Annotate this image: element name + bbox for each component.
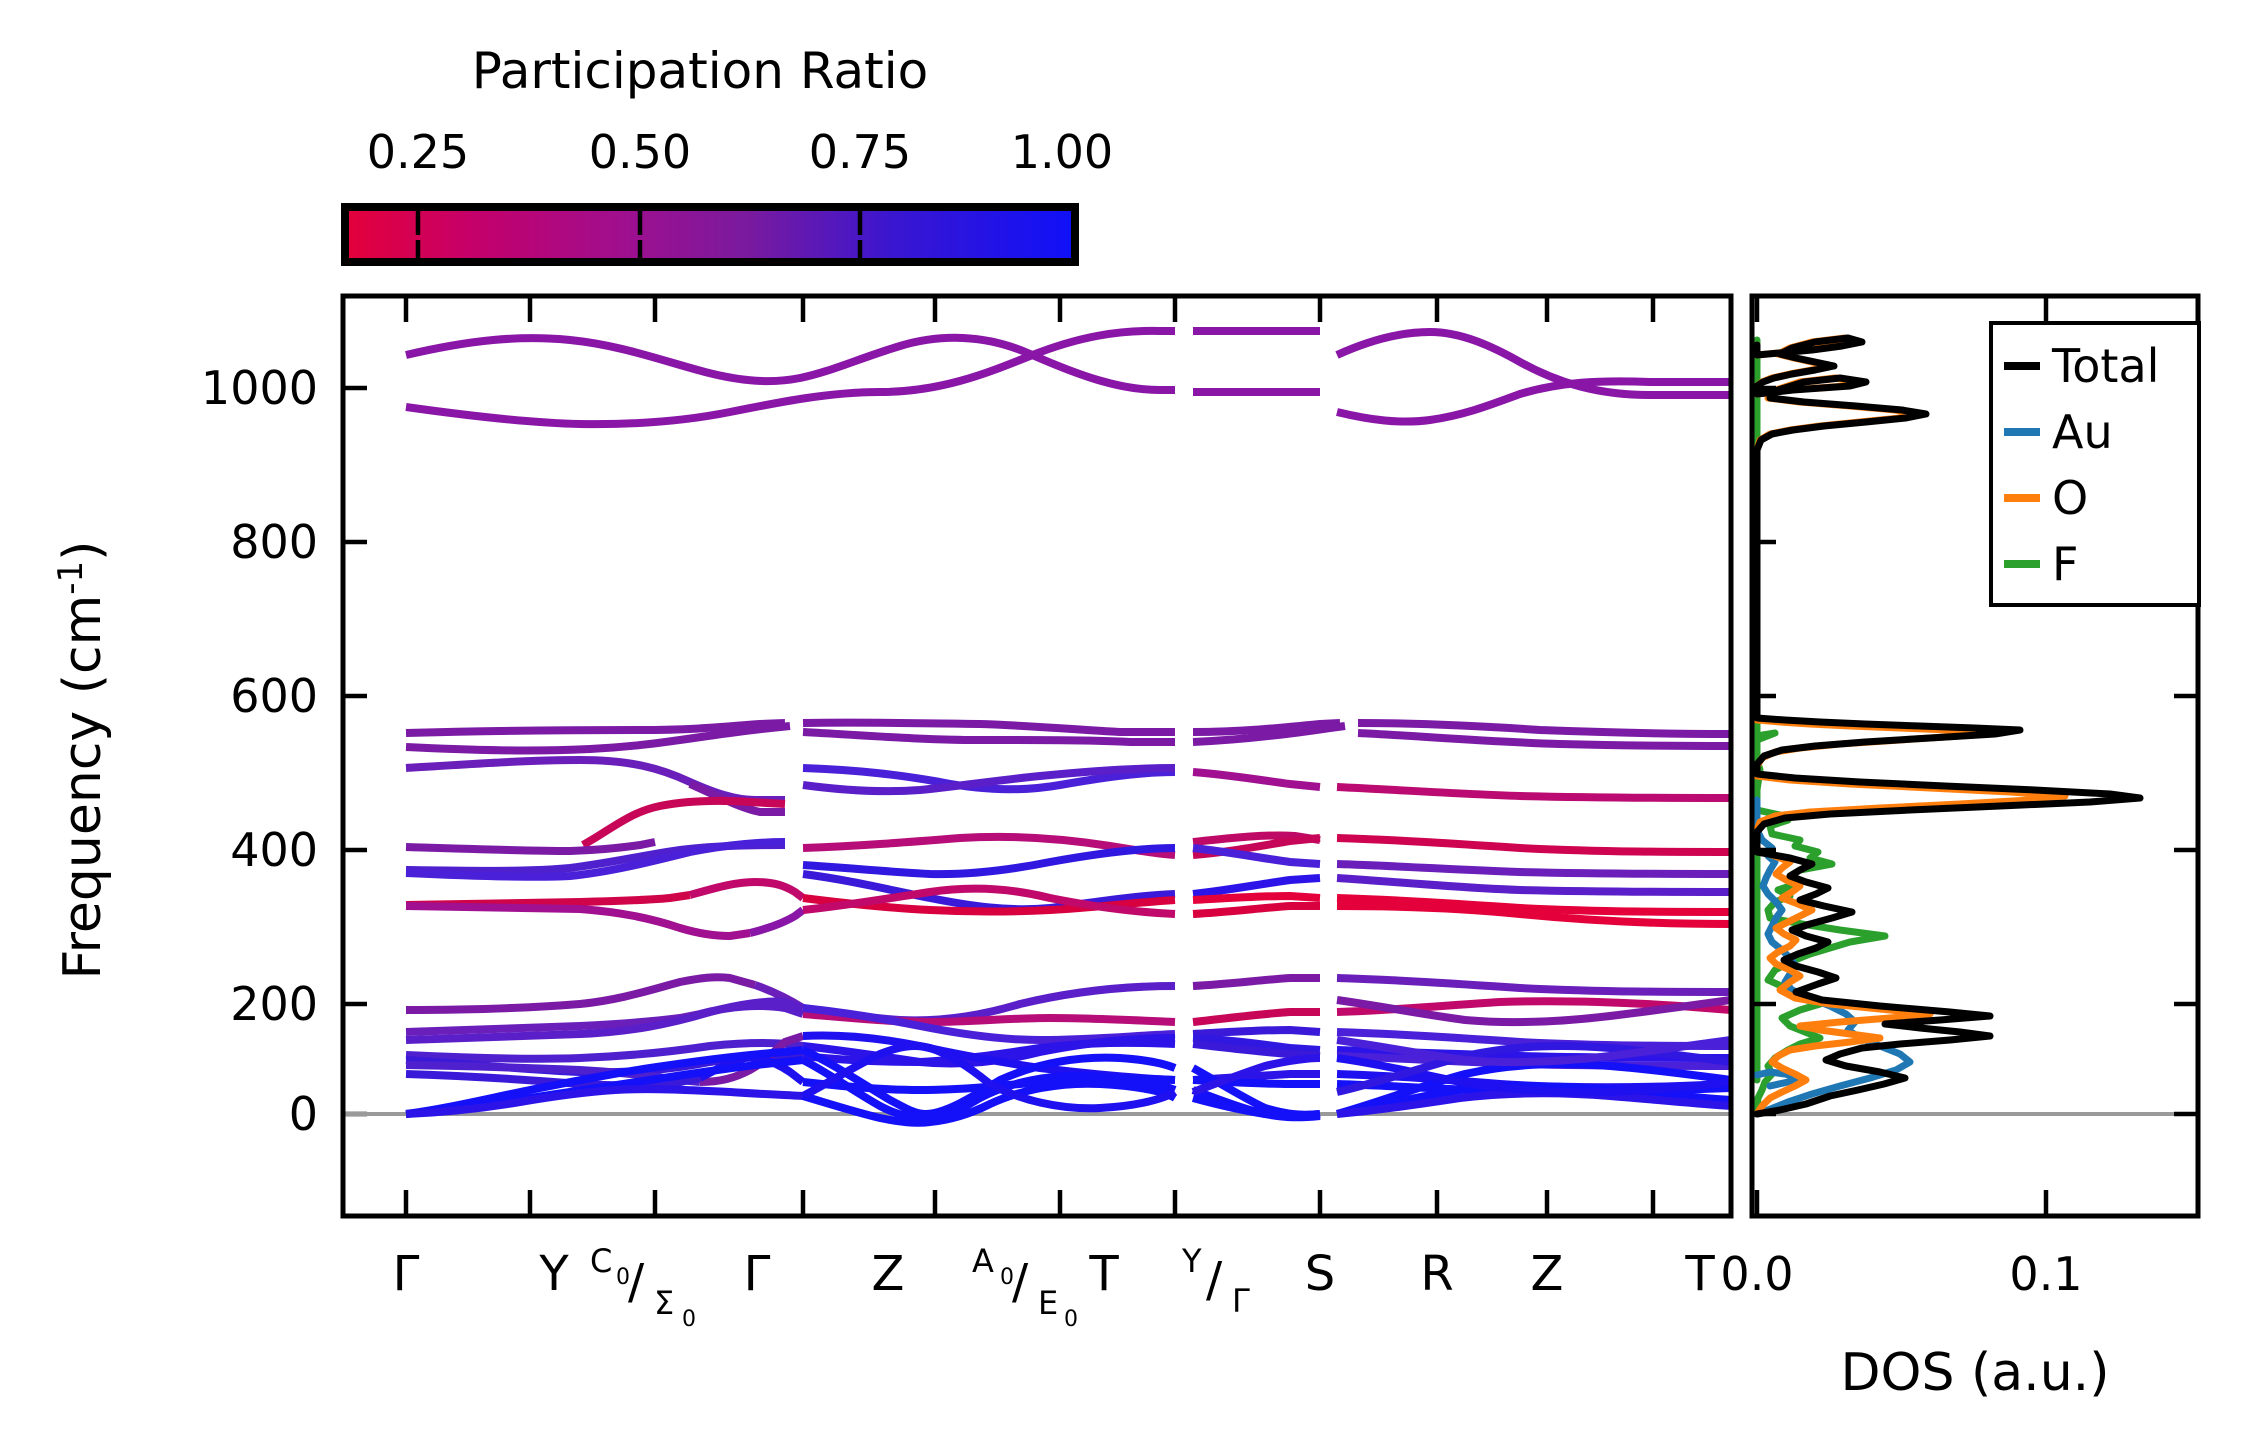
kpath-sigma0-main: Σ: [654, 1284, 674, 1322]
band-panel: 0 200 400 600 800 1000: [201, 296, 1731, 1216]
kpath-e0-main: E: [1038, 1284, 1058, 1322]
band-ytick-label-4: 800: [230, 515, 318, 569]
band-ytick-label-1: 200: [230, 977, 318, 1031]
colorbar-title: Participation Ratio: [472, 42, 928, 100]
colorbar-tick-1: 0.50: [589, 125, 691, 179]
legend-label-au: Au: [2052, 405, 2113, 459]
kpath-y2-main: Y: [1181, 1242, 1202, 1280]
kpath-label-r: R: [1420, 1246, 1453, 1302]
band-curve: [1193, 896, 1320, 900]
kpath-label-t-2: T: [1684, 1246, 1715, 1302]
kpath-slash-1: /: [628, 1254, 645, 1310]
kpath-slash-2: /: [1012, 1254, 1029, 1310]
y-axis-title-group: Frequency (cm-1): [51, 541, 113, 980]
kpath-label-gamma-2: Γ: [744, 1246, 771, 1302]
band-ytick-label-2: 400: [230, 823, 318, 877]
kpath-sigma0-sub: 0: [682, 1307, 696, 1332]
colorbar-gradient: [345, 207, 1075, 262]
band-ytick-label-3: 600: [230, 669, 318, 723]
band-ytick-label-0: 0: [289, 1087, 318, 1141]
figure-canvas: Participation Ratio 0.25 0.50 0.75 1.00 …: [0, 0, 2259, 1455]
kpath-label-z-2: Z: [1531, 1246, 1564, 1302]
band-ytick-label-5: 1000: [201, 361, 318, 415]
y-axis-title: Frequency (cm-1): [51, 541, 113, 980]
kpath-label-t-1: T: [1088, 1246, 1119, 1302]
kpath-label-z-1: Z: [872, 1246, 905, 1302]
kpath-c0-main: C: [590, 1242, 612, 1280]
y-axis-title-sup: -1: [51, 561, 91, 595]
legend-label-total: Total: [2051, 339, 2159, 393]
dos-xtick-label-1: 0.1: [2009, 1247, 2082, 1301]
colorbar-tick-0: 0.25: [367, 125, 469, 179]
kpath-label-gamma-1: Γ: [393, 1246, 420, 1302]
band-curve: [1193, 1030, 1320, 1034]
dos-xtick-label-0: 0.0: [1720, 1247, 1793, 1301]
phonon-figure: Participation Ratio 0.25 0.50 0.75 1.00 …: [0, 0, 2259, 1455]
legend-label-o: O: [2052, 471, 2088, 525]
dos-legend: Total Au O F: [1991, 323, 2199, 605]
y-axis-title-text: Frequency (cm: [53, 595, 113, 980]
kpath-label-y-1: Y: [538, 1246, 569, 1302]
legend-label-f: F: [2052, 537, 2078, 591]
kpath-gamma3-main: Γ: [1232, 1282, 1250, 1320]
colorbar-tick-2: 0.75: [809, 125, 911, 179]
dos-x-axis-title: DOS (a.u.): [1841, 1343, 2110, 1403]
kpath-e0-sub: 0: [1064, 1307, 1078, 1332]
kpath-slash-3: /: [1206, 1252, 1223, 1308]
kpath-a0-main: A: [972, 1242, 994, 1280]
kpath-label-s: S: [1305, 1246, 1335, 1302]
colorbar-tick-3: 1.00: [1011, 125, 1113, 179]
y-axis-title-tail: ): [53, 541, 113, 561]
